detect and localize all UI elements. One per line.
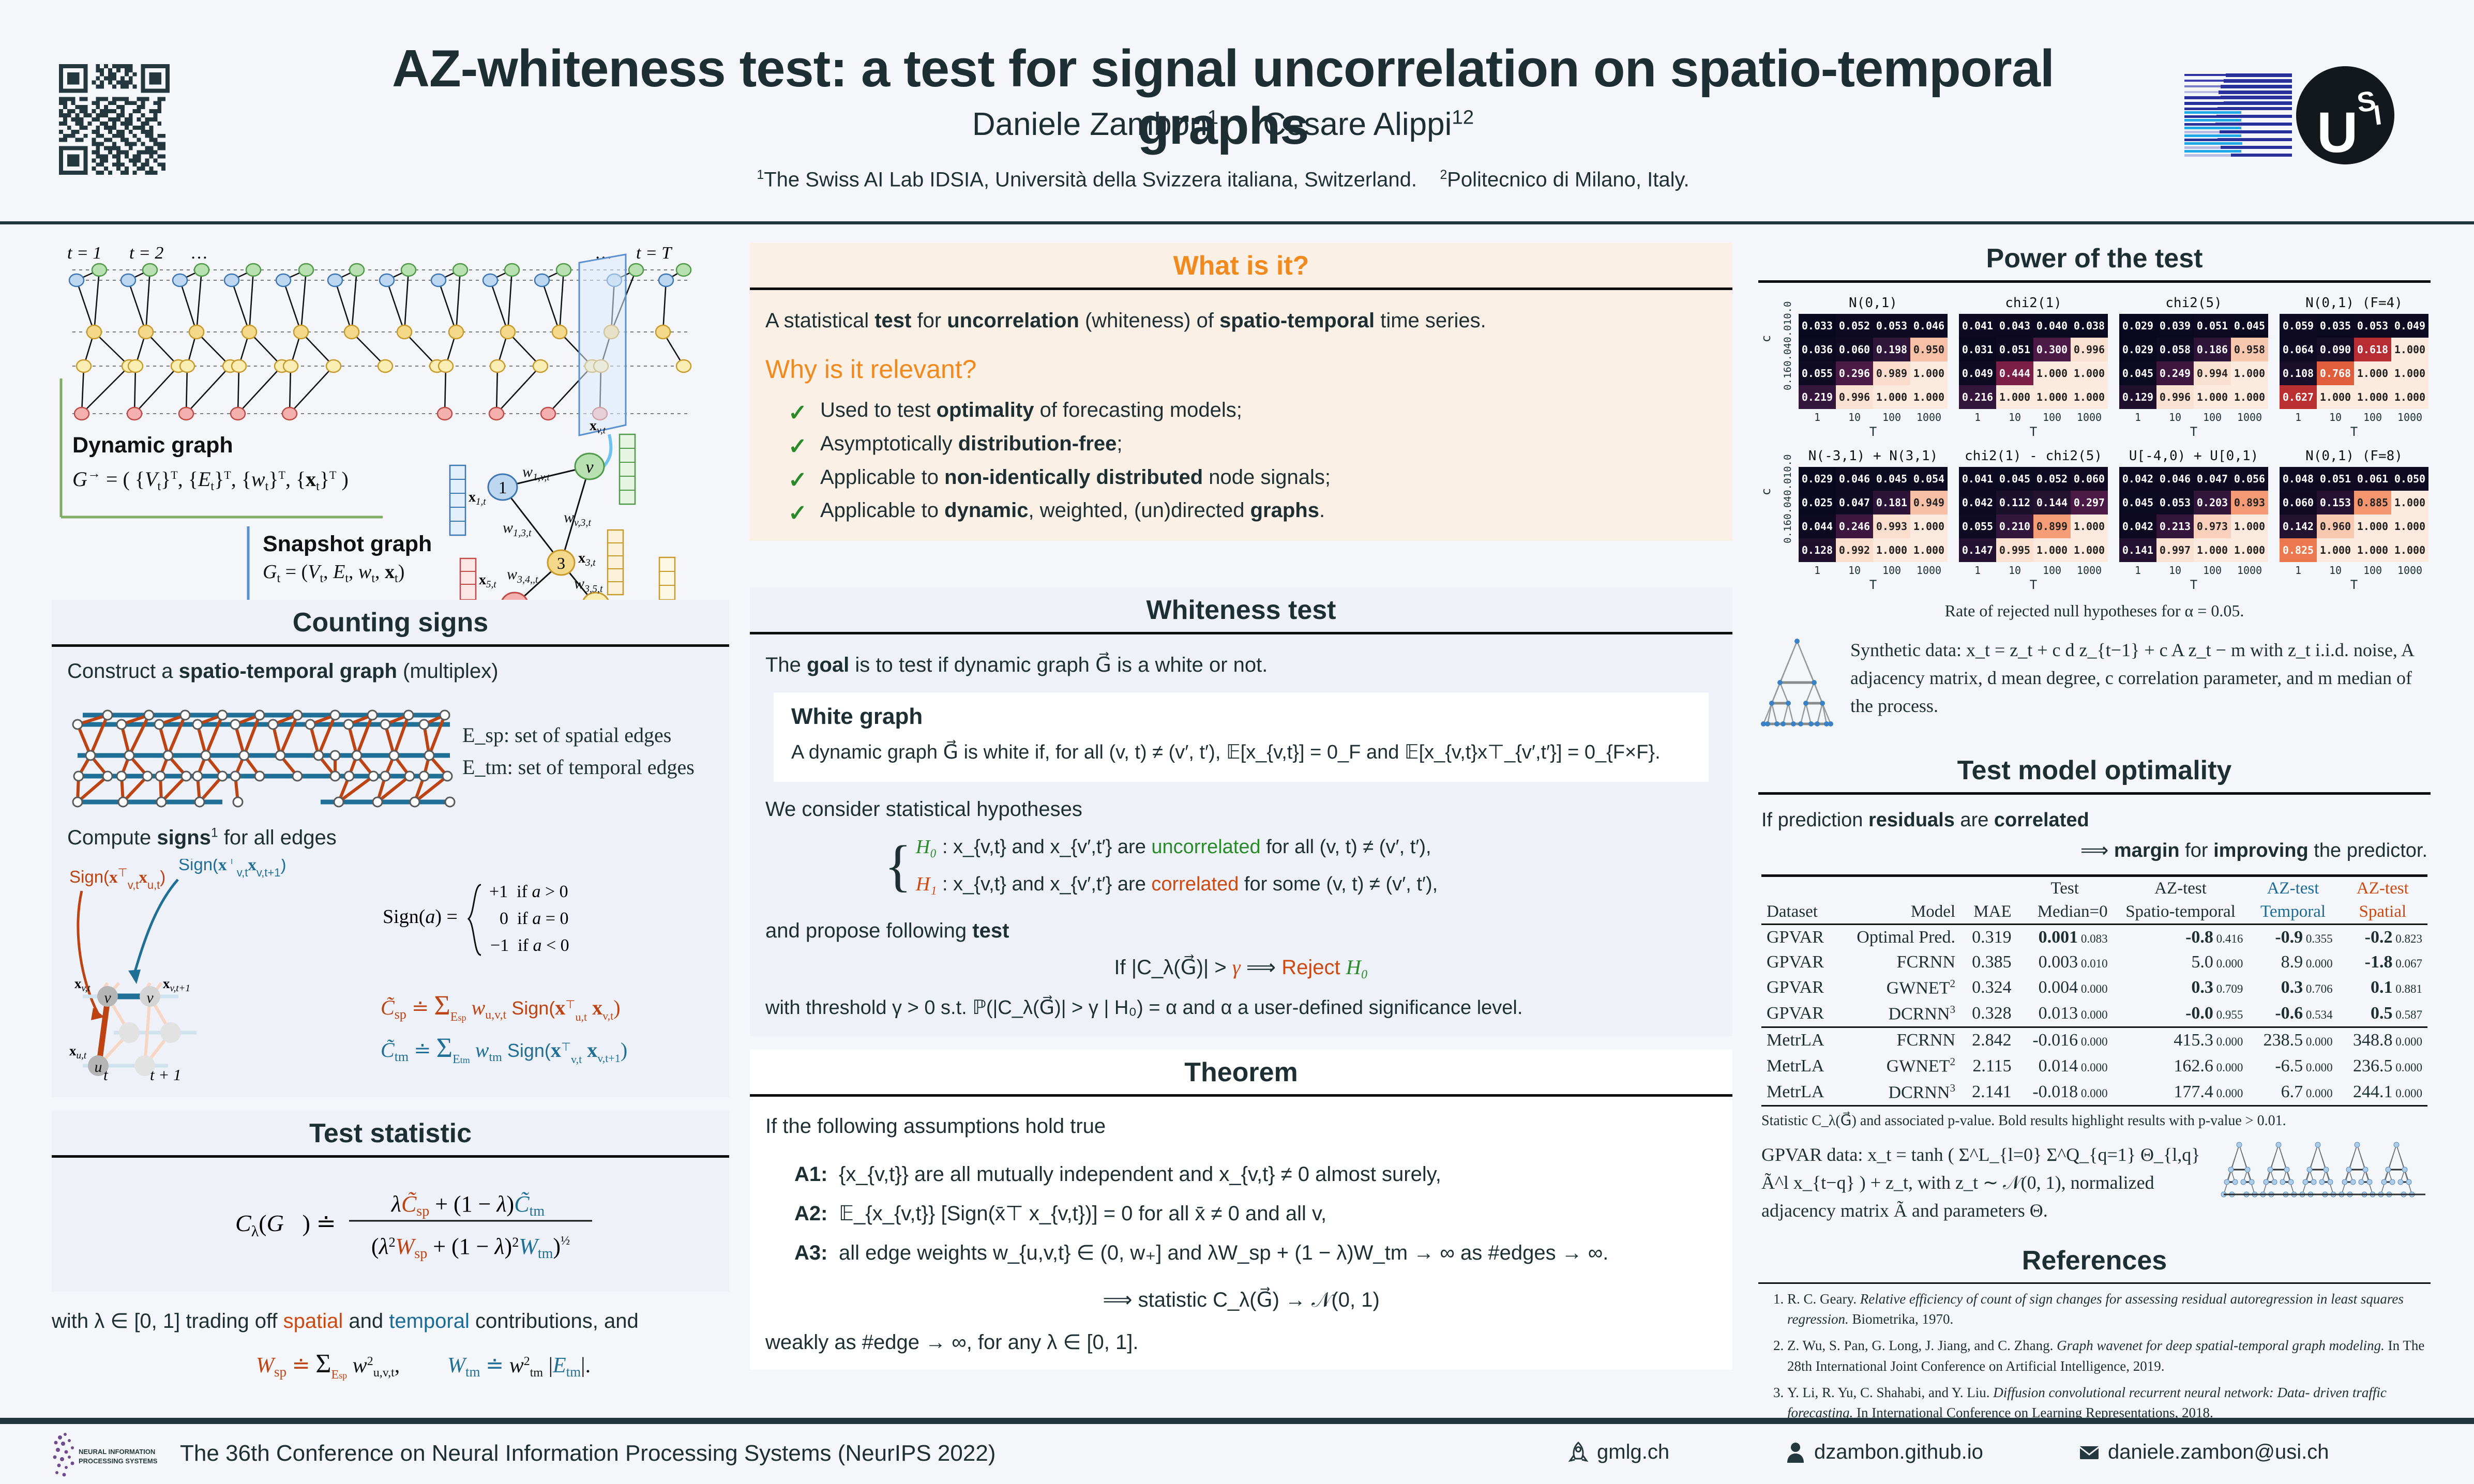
theorem-intro: If the following assumptions hold true: [765, 1110, 1717, 1142]
power-of-test-title: Power of the test: [1758, 243, 2431, 280]
bullet-0-bold: optimality: [937, 399, 1034, 421]
cell-dataset: GPVAR: [1761, 975, 1838, 1001]
svg-text:1: 1: [499, 478, 507, 497]
csp-formula: C̃sp ≐ ΣEsp wu,v,t Sign(x⊤u,t xv,t): [381, 990, 621, 1024]
optimality-rule: [1758, 792, 2431, 795]
th-az-tm: AZ-test: [2248, 875, 2337, 900]
counting-compute-post: for all edges: [218, 826, 337, 849]
svg-text:Gt = (Vt, Et, wt, xt): Gt = (Vt, Et, wt, xt): [263, 561, 404, 585]
heatmap-cell: 0.213: [2156, 514, 2194, 538]
test-rule-implies: ⟹: [1246, 956, 1276, 979]
heatmap-cell: 0.090: [2317, 338, 2354, 361]
heatmap-cell: 0.181: [1873, 491, 1910, 514]
cell-model: Optimal Pred.: [1838, 924, 1960, 950]
heatmap-cell: 0.198: [1873, 338, 1910, 361]
user-icon: [1785, 1441, 1806, 1464]
goal-pre: The: [765, 654, 807, 676]
heatmap-cell: 0.045: [2119, 361, 2156, 385]
svg-text:w3,5,t: w3,5,t: [574, 575, 603, 595]
white-graph-title: White graph: [791, 704, 1691, 730]
h0-name: H₀: [916, 836, 937, 858]
th-spatio-temporal: Spatio-temporal: [2113, 900, 2249, 925]
desc-part-0: A statistical: [765, 309, 874, 332]
references-rule: [1758, 1282, 2431, 1284]
margin-mid: for: [2180, 840, 2213, 861]
svg-text:4: 4: [510, 596, 519, 600]
heatmap-cell: 0.049: [2391, 314, 2428, 338]
heatmap-cell: 0.042: [2119, 514, 2156, 538]
heatmap-cell: 0.025: [1799, 491, 1836, 514]
cell-temporal: 8.9 0.000: [2248, 950, 2337, 975]
cell-spatio-temporal: 0.3 0.709: [2113, 975, 2249, 1001]
affil-1-sup: 1: [757, 168, 764, 182]
test-rule-h0: H₀: [1346, 956, 1368, 979]
th-model: Model: [1838, 900, 1960, 925]
section-what-is-it: What is it? A statistical test for uncor…: [750, 243, 1732, 541]
heatmap-cell: 0.112: [1996, 491, 2033, 514]
heatmap-cell: 0.052: [1836, 314, 1873, 338]
dynamic-graph-figure: t = 1 t = 2 … … t = T: [52, 243, 729, 600]
th-temporal: Temporal: [2248, 900, 2337, 925]
bullet-2-post: node signals;: [1203, 466, 1331, 489]
ref-authors: Z. Wu, S. Pan, G. Long, J. Jiang, and C.…: [1787, 1338, 2057, 1353]
statistic-note-pre: with λ ∈ [0, 1] trading off: [52, 1310, 283, 1332]
heatmap-x-ticks: 1101001000: [2119, 564, 2268, 577]
csp-ctm-formulas: C̃sp ≐ ΣEsp wu,v,t Sign(x⊤u,t xv,t) C̃tm…: [378, 981, 714, 1077]
margin-post: the predictor.: [2309, 840, 2427, 861]
assumption-a2-text: 𝔼_{x_{v,t}} [Sign(x̄⊤ x_{v,t})] = 0 for …: [839, 1202, 1326, 1225]
heatmap-x-ticks: 1101001000: [1799, 564, 1948, 577]
margin-bold2: improving: [2213, 840, 2309, 861]
ref-authors: R. C. Geary.: [1787, 1291, 1860, 1307]
power-of-test-rule: [1758, 280, 2431, 283]
table-row: MetrLADCRNN32.141-0.018 0.000177.4 0.000…: [1761, 1079, 2427, 1106]
svg-text:λC̃sp + (1 − λ)C̃tm: λC̃sp + (1 − λ)C̃tm: [390, 1191, 545, 1219]
heatmap-cell: 0.108: [2280, 361, 2317, 385]
desc-part-6: time series.: [1375, 309, 1486, 332]
heatmap-cell: 0.053: [2354, 314, 2391, 338]
heatmap-cell: 0.049: [1959, 361, 1996, 385]
assumption-a1: A1:{x_{v,t}} are all mutually independen…: [794, 1155, 1717, 1194]
theorem-conclusion: ⟹ statistic C_λ(G⃗) → 𝒩(0, 1): [765, 1288, 1717, 1312]
heatmap-cell: 0.060: [2071, 467, 2108, 491]
svg-text:G→ = ( {Vt}T, {Et}T, {wt}T, {x: G→ = ( {Vt}T, {Et}T, {wt}T, {xt}T ): [72, 466, 349, 493]
neurips-logo-line1: NEURAL INFORMATION: [79, 1448, 155, 1456]
heatmap-cell: 0.216: [1959, 385, 1996, 409]
margin-line: ⟹ margin for improving the predictor.: [1761, 836, 2427, 866]
cell-temporal: 6.7 0.000: [2248, 1079, 2337, 1106]
hypotheses-intro: We consider statistical hypotheses: [765, 793, 1717, 825]
wtm-formula: Wtm ≐ w2tm |Etm|.: [447, 1354, 591, 1380]
heatmap-cell: 0.042: [2119, 467, 2156, 491]
table-header-bottom: Dataset Model MAE Median=0 Spatio-tempor…: [1761, 900, 2427, 925]
bullet-0-post: of forecasting models;: [1034, 399, 1242, 421]
heatmap-cell: 0.047: [2194, 467, 2231, 491]
heatmap-cell: 0.029: [2119, 314, 2156, 338]
bullet-3-bold: dynamic: [944, 499, 1028, 522]
heatmap-cell: 0.051: [2317, 467, 2354, 491]
theorem-assumptions: A1:{x_{v,t}} are all mutually independen…: [794, 1155, 1717, 1273]
ref-venue: Biometrika, 1970.: [1849, 1311, 1953, 1327]
heatmap-cell: 0.048: [2280, 467, 2317, 491]
cell-temporal: -0.6 0.534: [2248, 1001, 2337, 1027]
ref-authors: Y. Li, R. Yu, C. Shahabi, and Y. Liu.: [1787, 1385, 1993, 1400]
counting-compute-bold: signs: [157, 826, 210, 849]
hypotheses-block: { H₀ : x_{v,t} and x_{v′,t′} are uncorre…: [765, 828, 1717, 903]
svg-text:3: 3: [557, 554, 565, 572]
counting-compute-line: Compute signs1 for all edges: [67, 822, 714, 854]
heatmap-cell: 0.129: [2119, 385, 2156, 409]
cell-spatio-temporal: -0.0 0.955: [2113, 1001, 2249, 1027]
heatmap-cell: 1.000: [2033, 361, 2071, 385]
results-table-note: Statistic C_λ(G⃗) and associated p-value…: [1761, 1112, 2427, 1129]
desc-part-4: (whiteness) of: [1079, 309, 1219, 332]
section-whiteness-test: Whiteness test The goal is to test if dy…: [750, 587, 1732, 1036]
heatmap-cell: 1.000: [2317, 385, 2354, 409]
cell-model: DCRNN3: [1838, 1001, 1960, 1027]
heatmap-cell: 0.045: [2231, 314, 2268, 338]
cell-mae: 0.319: [1960, 924, 2017, 950]
list-item: R. C. Geary. Relative efficiency of coun…: [1787, 1289, 2431, 1329]
list-item: ✓Used to test optimality of forecasting …: [788, 393, 1717, 427]
desc-part-1: test: [874, 309, 911, 332]
sign-def-head: Sign(a) =: [383, 906, 458, 928]
check-icon: ✓: [788, 462, 807, 498]
heatmap-cell: 1.000: [2231, 514, 2268, 538]
heatmap-title: N(0,1) (F=8): [2280, 448, 2428, 464]
cell-dataset: MetrLA: [1761, 1027, 1838, 1053]
assumption-a1-tag: A1:: [794, 1155, 839, 1194]
heatmap-cell: 0.141: [2119, 538, 2156, 562]
what-is-it-title: What is it?: [750, 243, 1732, 287]
counting-construct-bold: spatio-temporal graph: [179, 660, 397, 683]
white-graph-definition-box: White graph A dynamic graph G⃗ is white …: [774, 692, 1709, 782]
heatmap-cell: 0.996: [2156, 385, 2194, 409]
heatmap-x-ticks: 1101001000: [1959, 564, 2108, 577]
heatmap-row: N(-3,1) + N(3,1)0.00.010.040.16c0.0290.0…: [1799, 448, 2431, 592]
cell-mae: 0.324: [1960, 975, 2017, 1001]
heatmap-cell: 0.960: [2317, 514, 2354, 538]
h1-pre: : x_{v,t} and x_{v′,t′} are: [937, 873, 1151, 895]
heatmap-cell: 1.000: [1910, 385, 1948, 409]
test-decision-rule: If |C_λ(G⃗)| > γ ⟹ Reject H₀: [765, 955, 1717, 979]
what-is-it-description: A statistical test for uncorrelation (wh…: [765, 305, 1717, 337]
table-row: GPVARGWNET20.3240.004 0.0000.3 0.7090.3 …: [1761, 975, 2427, 1001]
heatmap-cell: 1.000: [2194, 385, 2231, 409]
test-statistic-note: with λ ∈ [0, 1] trading off spatial and …: [52, 1305, 729, 1337]
what-is-it-rule: [750, 287, 1732, 290]
heatmap-x-label: T: [2280, 578, 2428, 592]
rocket-icon: [1568, 1441, 1589, 1464]
wsp-formula: Wsp ≐ ΣEsp w2u,v,t,: [256, 1349, 400, 1382]
gpvar-graph-icon: [2221, 1141, 2427, 1205]
heatmap-cell: 0.996: [1836, 385, 1873, 409]
assumption-a1-text: {x_{v,t}} are all mutually independent a…: [839, 1163, 1441, 1186]
heatmap-x-label: T: [2280, 425, 2428, 439]
link-gmlg-label: gmlg.ch: [1597, 1441, 1669, 1464]
heatmap-cell: 1.000: [1910, 514, 1948, 538]
link-gmlg[interactable]: gmlg.ch: [1568, 1441, 1669, 1464]
cell-dataset: GPVAR: [1761, 924, 1838, 950]
heatmap-title: chi2(5): [2119, 295, 2268, 311]
heatmap-x-label: T: [1959, 425, 2108, 439]
heatmap-cell: 0.618: [2354, 338, 2391, 361]
heatmap-cell: 1.000: [2391, 491, 2428, 514]
affiliations: 1The Swiss AI Lab IDSIA, Università dell…: [331, 168, 2115, 191]
heatmap-cell: 1.000: [1873, 385, 1910, 409]
heatmap-y-label: c: [1759, 335, 1773, 342]
section-references: References R. C. Geary. Relative efficie…: [1758, 1238, 2431, 1423]
heatmap-cell: 1.000: [2354, 538, 2391, 562]
cell-median: 0.013 0.000: [2017, 1001, 2113, 1027]
heatmap-title: N(0,1) (F=4): [2280, 295, 2428, 311]
gpvar-data-text: GPVAR data: x_t = tanh ( Σ^L_{l=0} Σ^Q_{…: [1761, 1141, 2208, 1224]
svg-text:Snapshot graph: Snapshot graph: [263, 532, 432, 556]
th-mae: MAE: [1960, 900, 2017, 925]
cell-spatial: 244.1 0.000: [2338, 1079, 2427, 1106]
heatmap-y-ticks: 0.00.010.040.16: [1776, 448, 1800, 543]
heatmap-cell: 0.053: [1873, 314, 1910, 338]
heatmap-cell: 0.041: [1959, 314, 1996, 338]
statistic-note-temporal: temporal: [389, 1310, 470, 1332]
heatmap-cell: 0.994: [2194, 361, 2231, 385]
heatmap-cell: 0.989: [1873, 361, 1910, 385]
heatmap-grid: 0.0590.0350.0530.0490.0640.0900.6181.000…: [2280, 314, 2428, 409]
svg-text:wv,3,t: wv,3,t: [564, 509, 591, 528]
heatmap-cell: 0.997: [2156, 538, 2194, 562]
bullet-0-pre: Used to test: [820, 399, 937, 421]
counting-signs-rule: [52, 644, 729, 647]
heatmap-cell: 0.995: [1996, 538, 2033, 562]
heatmap-cell: 0.055: [1959, 514, 1996, 538]
statistic-note-post: contributions, and: [470, 1310, 639, 1332]
heatmap-cell: 0.899: [2033, 514, 2071, 538]
heatmap-cell: 1.000: [2231, 361, 2268, 385]
heatmap-grid: 0.0480.0510.0610.0500.0600.1530.8851.000…: [2280, 467, 2428, 562]
theorem-title: Theorem: [750, 1050, 1732, 1094]
cell-median: 0.003 0.010: [2017, 950, 2113, 975]
author-2: Cesare Alippi: [1263, 107, 1452, 142]
link-email[interactable]: daniele.zambon@usi.ch: [2079, 1441, 2329, 1464]
heatmap-x-label: T: [1799, 578, 1948, 592]
table-row: MetrLAFCRNN2.842-0.016 0.000415.3 0.0002…: [1761, 1027, 2427, 1053]
residuals-bold2: correlated: [1994, 809, 2089, 831]
residuals-line: If prediction residuals are correlated: [1761, 805, 2427, 836]
heatmap-cell: 0.060: [2280, 491, 2317, 514]
list-item: ✓Applicable to dynamic, weighted, (un)di…: [788, 494, 1717, 527]
heatmap-cell: 1.000: [2354, 361, 2391, 385]
svg-text:…: …: [190, 244, 208, 263]
heatmap-cell: 0.045: [1996, 467, 2033, 491]
header-divider: [0, 221, 2474, 224]
heatmap-cell: 1.000: [2071, 361, 2108, 385]
synthetic-data-note: Synthetic data: x_t = z_t + c d z_{t−1} …: [1758, 636, 2431, 734]
hypothesis-h0: H₀ : x_{v,t} and x_{v′,t′} are uncorrela…: [916, 828, 1438, 866]
heatmap-cell: 0.031: [1959, 338, 1996, 361]
list-item: Z. Wu, S. Pan, G. Long, J. Jiang, and C.…: [1787, 1336, 2431, 1376]
heatmap-cell: 0.045: [1873, 467, 1910, 491]
svg-text:t = 2: t = 2: [129, 244, 163, 263]
cell-temporal: 238.5 0.000: [2248, 1027, 2337, 1053]
statistic-note-mid: and: [343, 1310, 389, 1332]
heatmap-cell: 0.144: [2033, 491, 2071, 514]
heatmap-cell: 0.142: [2280, 514, 2317, 538]
heatmap-cell: 0.246: [1836, 514, 1873, 538]
usi-logo: U S I: [2296, 66, 2394, 164]
heatmap-cell: 1.000: [2391, 361, 2428, 385]
heatmap-cell: 0.046: [1836, 467, 1873, 491]
heatmap-cell: 1.000: [2391, 338, 2428, 361]
residuals-pre: If prediction: [1761, 809, 1868, 831]
cell-median: 0.001 0.083: [2017, 924, 2113, 950]
heatmap-cell: 0.047: [1836, 491, 1873, 514]
cell-mae: 0.385: [1960, 950, 2017, 975]
table-header-top: Test AZ-test AZ-test AZ-test: [1761, 875, 2427, 900]
heatmap-title: N(0,1): [1799, 295, 1948, 311]
assumption-a2-tag: A2:: [794, 1194, 839, 1233]
heatmap-cell: 0.033: [1799, 314, 1836, 338]
heatmap-title: chi2(1): [1959, 295, 2108, 311]
counting-compute-pre: Compute: [67, 826, 157, 849]
svg-text:v: v: [146, 989, 154, 1006]
heatmap-cell: 0.039: [2156, 314, 2194, 338]
why-relevant-list: ✓Used to test optimality of forecasting …: [765, 393, 1717, 527]
heatmap-x-ticks: 1101001000: [1799, 411, 1948, 423]
heatmap-x-ticks: 1101001000: [2280, 411, 2428, 423]
heatmap-cell: 0.050: [2391, 467, 2428, 491]
svg-text:xu,t: xu,t: [69, 1043, 87, 1061]
margin-implies: ⟹: [2080, 840, 2114, 861]
column-right: Power of the test N(0,1)0.00.010.040.16c…: [1758, 243, 2431, 1436]
test-intro: and propose following test: [765, 915, 1717, 947]
esp-legend: E_sp: set of spatial edges: [462, 719, 695, 751]
author-1: Daniele Zambon: [972, 107, 1208, 142]
heatmap-cell: 0.056: [2231, 467, 2268, 491]
h0-mark: uncorrelated: [1151, 836, 1260, 858]
bullet-3-bold2: graphs: [1250, 499, 1319, 522]
affil-1: The Swiss AI Lab IDSIA, Università della…: [764, 168, 1417, 191]
heatmap-cell: 0.147: [1959, 538, 1996, 562]
heatmap-grid: 0.0420.0460.0470.0560.0450.0530.2030.893…: [2119, 467, 2268, 562]
heatmap-x-label: T: [1799, 425, 1948, 439]
affil-2-sup: 2: [1440, 168, 1447, 182]
check-icon: ✓: [788, 428, 807, 465]
list-item: Y. Li, R. Yu, C. Shahabi, and Y. Liu. Di…: [1787, 1383, 2431, 1423]
heatmap-x-ticks: 1101001000: [2280, 564, 2428, 577]
residuals-mid: are: [1955, 809, 1994, 831]
heatmap-chi2(1): chi2(1)0.0410.0430.0400.0380.0310.0510.3…: [1959, 295, 2108, 439]
sign-axis-t: t: [103, 1066, 109, 1081]
heatmap-x-label: T: [2119, 425, 2268, 439]
heatmap-N(0,1): N(0,1)0.00.010.040.16c0.0330.0520.0530.0…: [1799, 295, 1948, 439]
heatmap-N(0,1) (F=4): N(0,1) (F=4)0.0590.0350.0530.0490.0640.0…: [2280, 295, 2428, 439]
heatmap-cell: 0.054: [1910, 467, 1948, 491]
svg-text:Dynamic graph: Dynamic graph: [72, 433, 233, 458]
heatmap-cell: 1.000: [1910, 361, 1948, 385]
h0-post: for all (v, t) ≠ (v′, t′),: [1261, 836, 1431, 858]
svg-text:t = 1: t = 1: [67, 244, 101, 263]
heatmap-cell: 0.219: [1799, 385, 1836, 409]
usi-logo-u: U: [2317, 104, 2358, 161]
etm-legend: E_tm: set of temporal edges: [462, 751, 695, 783]
cell-model: FCRNN: [1838, 1027, 1960, 1053]
heatmap-x-label: T: [2119, 578, 2268, 592]
heatmap-cell: 0.627: [2280, 385, 2317, 409]
th-dataset: Dataset: [1761, 900, 1838, 925]
column-left: t = 1 t = 2 … … t = T: [52, 243, 729, 1390]
goal-post: is to test if dynamic graph G⃗ is a whit…: [849, 654, 1268, 676]
heatmap-cell: 0.949: [1910, 491, 1948, 514]
cell-median: 0.004 0.000: [2017, 975, 2113, 1001]
cell-model: DCRNN3: [1838, 1079, 1960, 1106]
heatmap-cell: 1.000: [2033, 385, 2071, 409]
hypothesis-h1: H₁ : x_{v,t} and x_{v′,t′} are correlate…: [916, 866, 1438, 903]
heatmap-cell: 1.000: [2354, 385, 2391, 409]
desc-part-3: uncorrelation: [947, 309, 1079, 332]
sign-axis-t1: t + 1: [150, 1066, 182, 1081]
heatmap-cell: 0.036: [1799, 338, 1836, 361]
heatmap-x-ticks: 1101001000: [1959, 411, 2108, 423]
svg-text:t = T: t = T: [636, 244, 672, 263]
heatmap-cell: 0.061: [2354, 467, 2391, 491]
heatmap-cell: 0.041: [1959, 467, 1996, 491]
th-spatial: Spatial: [2338, 900, 2427, 925]
results-table-body: GPVAROptimal Pred.0.3190.001 0.083-0.8 0…: [1761, 924, 2427, 1107]
assumption-a3-text: all edge weights w_{u,v,t} ∈ (0, w₊] and…: [839, 1241, 1608, 1264]
link-github[interactable]: dzambon.github.io: [1785, 1441, 1983, 1464]
check-icon: ✓: [788, 395, 807, 431]
heatmap-cell: 0.186: [2194, 338, 2231, 361]
cell-spatio-temporal: 5.0 0.000: [2113, 950, 2249, 975]
heatmap-cell: 0.035: [2317, 314, 2354, 338]
synthetic-data-text: Synthetic data: x_t = z_t + c d z_{t−1} …: [1850, 636, 2431, 720]
table-row: MetrLAGWNET22.1150.014 0.000162.6 0.000-…: [1761, 1053, 2427, 1079]
heatmap-cell: 0.046: [2156, 467, 2194, 491]
cell-spatio-temporal: 177.4 0.000: [2113, 1079, 2249, 1106]
heatmap-cell: 0.060: [1836, 338, 1873, 361]
table-row: GPVARFCRNN0.3850.003 0.0105.0 0.0008.9 0…: [1761, 950, 2427, 975]
bullet-1-pre: Asymptotically: [820, 432, 958, 455]
theorem-rule: [750, 1094, 1732, 1097]
svg-text:(λ2Wsp + (1 − λ)2Wtm)½: (λ2Wsp + (1 − λ)2Wtm)½: [371, 1234, 570, 1262]
heatmap-cell: 1.000: [2071, 514, 2108, 538]
heatmap-grid: 0.0290.0460.0450.0540.0250.0470.1810.949…: [1799, 467, 1948, 562]
heatmap-cell: 1.000: [2071, 538, 2108, 562]
heatmap-cell: 0.893: [2231, 491, 2268, 514]
heatmap-cell: 0.950: [1910, 338, 1948, 361]
counting-compute-sup: 1: [211, 826, 218, 840]
qr-code[interactable]: [55, 60, 174, 179]
test-statistic-formula: Cλ(G⃗) ≐ λC̃sp + (1 − λ)C̃tm (λ2Wsp + (1…: [67, 1173, 714, 1279]
heatmap-cell: 0.885: [2354, 491, 2391, 514]
table-bottom-rule: [1761, 1106, 2427, 1107]
bullet-3-post2: .: [1319, 499, 1325, 522]
heatmap-cell: 0.996: [2071, 338, 2108, 361]
th-az-st: AZ-test: [2113, 875, 2249, 900]
h0-pre: : x_{v,t} and x_{v′,t′} are: [937, 836, 1151, 858]
section-power-of-test: Power of the test N(0,1)0.00.010.040.16c…: [1758, 243, 2431, 734]
test-intro-pre: and propose following: [765, 919, 972, 942]
svg-text:xv,t+1: xv,t+1: [163, 976, 190, 994]
section-test-statistic: Test statistic Cλ(G⃗) ≐ λC̃sp + (1 − λ)C…: [52, 1111, 729, 1292]
cell-temporal: -6.5 0.000: [2248, 1053, 2337, 1079]
heatmap-cell: 0.296: [1836, 361, 1873, 385]
heatmap-U[-4,0) + U[0,1): U[-4,0) + U[0,1)0.0420.0460.0470.0560.04…: [2119, 448, 2268, 592]
heatmap-cell: 1.000: [2391, 514, 2428, 538]
svg-text:w1,3,t: w1,3,t: [503, 519, 532, 539]
cell-spatial: 0.1 0.881: [2338, 975, 2427, 1001]
svg-text:u: u: [95, 1058, 102, 1076]
